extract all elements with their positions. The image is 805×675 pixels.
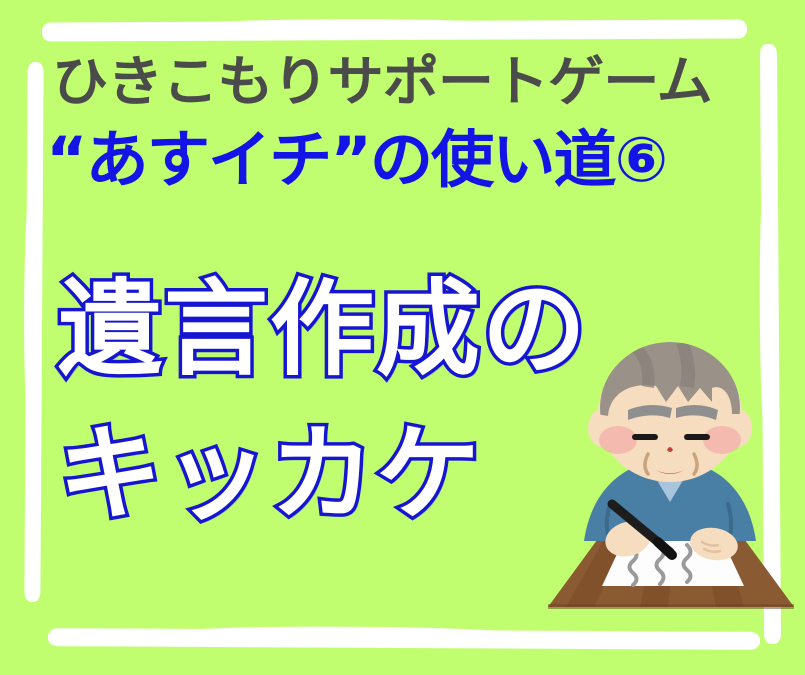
desk-edge [548, 604, 794, 609]
headline-line-2: キッカケ [58, 400, 678, 548]
headline-line-1: 遺言作成の [58, 255, 678, 403]
thumbnail-canvas: ひきこもりサポートゲーム “あすイチ”の使い道⑥ 遺言作成の キッカケ [0, 0, 805, 675]
subtitle-text: ひきこもりサポートゲーム [52, 52, 805, 112]
frame-top-stroke [42, 20, 747, 40]
series-title-text: “あすイチ”の使い道⑥ [46, 126, 801, 194]
eye-right [684, 434, 710, 440]
frame-bottom-stroke [48, 628, 760, 650]
frame-left-stroke [24, 62, 43, 602]
cheek-right [703, 426, 741, 454]
